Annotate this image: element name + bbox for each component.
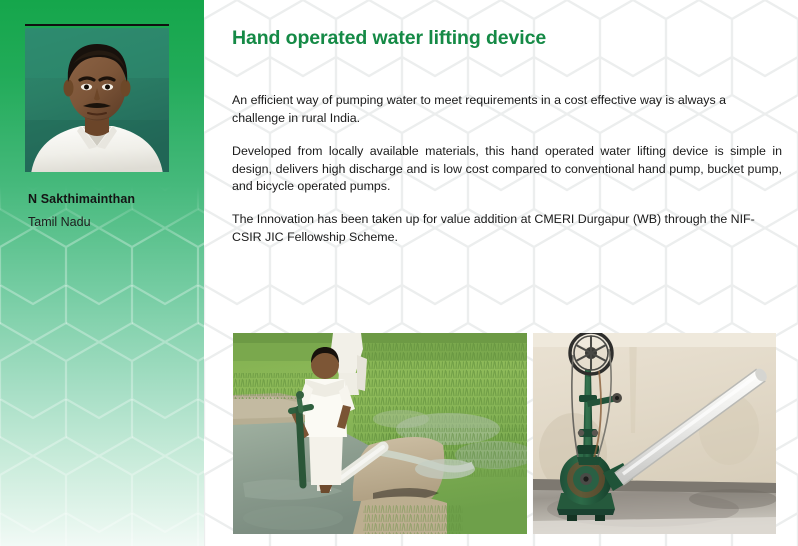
avatar — [25, 28, 169, 172]
author-name: N Sakthimainthan — [28, 192, 135, 206]
main-content: Hand operated water lifting device An ef… — [204, 0, 798, 546]
slide-page: N Sakthimainthan Tamil Nadu Hand operate… — [0, 0, 798, 546]
paragraph-innovation-note: The Innovation has been taken up for val… — [232, 211, 782, 246]
page-title: Hand operated water lifting device — [232, 27, 546, 50]
left-sidebar: N Sakthimainthan Tamil Nadu — [0, 0, 204, 546]
author-state: Tamil Nadu — [28, 215, 91, 229]
portrait-frame — [25, 24, 169, 172]
paragraph-intro: An efficient way of pumping water to mee… — [232, 92, 782, 127]
paragraph-description: Developed from locally available materia… — [232, 143, 782, 196]
